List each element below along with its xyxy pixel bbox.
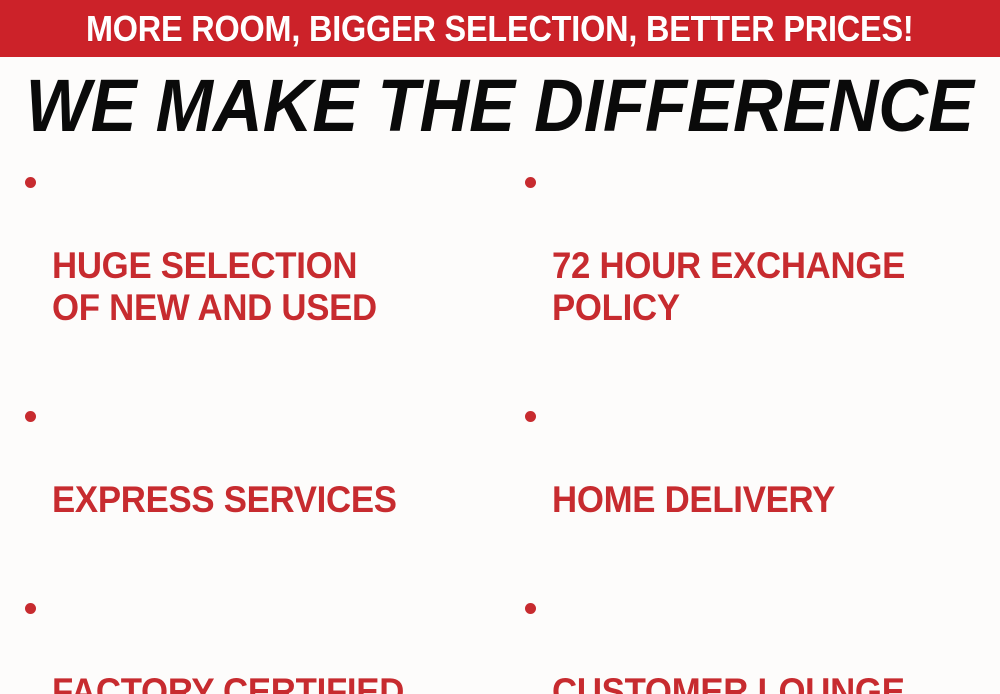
- benefits-columns: HUGE SELECTION OF NEW AND USED EXPRESS S…: [0, 155, 1000, 694]
- list-item: FACTORY CERTIFIED TECHNICIANS: [18, 587, 500, 694]
- benefits-list-right: 72 HOUR EXCHANGE POLICY HOME DELIVERY CU…: [518, 161, 1000, 694]
- list-item-label: HUGE SELECTION OF NEW AND USED: [52, 245, 473, 329]
- benefits-list-left: HUGE SELECTION OF NEW AND USED EXPRESS S…: [18, 161, 500, 694]
- benefits-column-left: HUGE SELECTION OF NEW AND USED EXPRESS S…: [0, 155, 500, 694]
- list-item-label: 72 HOUR EXCHANGE POLICY: [552, 245, 973, 329]
- list-item: CUSTOMER LOUNGE WIFI: [518, 587, 1000, 694]
- benefits-column-right: 72 HOUR EXCHANGE POLICY HOME DELIVERY CU…: [500, 155, 1000, 694]
- top-banner: MORE ROOM, BIGGER SELECTION, BETTER PRIC…: [0, 0, 1000, 57]
- bullet-dot-icon: [25, 411, 36, 422]
- list-item-label: FACTORY CERTIFIED TECHNICIANS: [52, 671, 473, 694]
- headline-container: WE MAKE THE DIFFERENCE: [0, 60, 1000, 152]
- bullet-dot-icon: [25, 603, 36, 614]
- list-item: EXPRESS SERVICES: [18, 395, 500, 563]
- page-title: WE MAKE THE DIFFERENCE: [26, 67, 974, 145]
- bullet-dot-icon: [525, 411, 536, 422]
- banner-headline-text: MORE ROOM, BIGGER SELECTION, BETTER PRIC…: [86, 10, 914, 48]
- list-item-label: EXPRESS SERVICES: [52, 479, 473, 521]
- list-item: HUGE SELECTION OF NEW AND USED: [18, 161, 500, 371]
- list-item: 72 HOUR EXCHANGE POLICY: [518, 161, 1000, 371]
- advertisement-poster: MORE ROOM, BIGGER SELECTION, BETTER PRIC…: [0, 0, 1000, 694]
- list-item: HOME DELIVERY: [518, 395, 1000, 563]
- list-item-label: CUSTOMER LOUNGE WIFI: [552, 671, 973, 694]
- bullet-dot-icon: [525, 177, 536, 188]
- bullet-dot-icon: [25, 177, 36, 188]
- list-item-label: HOME DELIVERY: [552, 479, 973, 521]
- bullet-dot-icon: [525, 603, 536, 614]
